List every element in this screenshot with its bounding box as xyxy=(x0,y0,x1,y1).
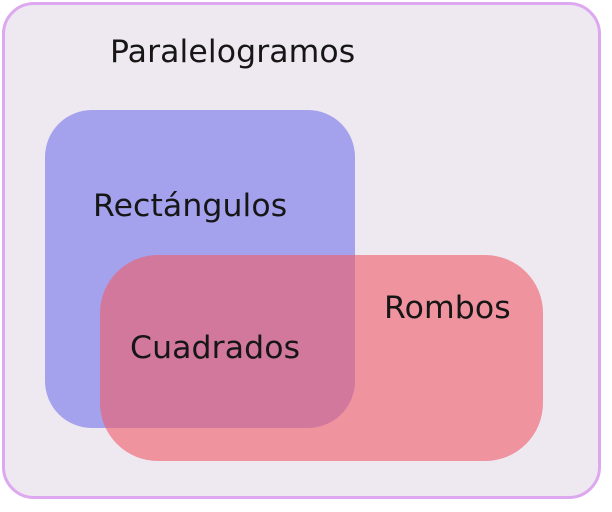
set-label-rombos: Rombos xyxy=(384,290,511,327)
set-label-cuadrados: Cuadrados xyxy=(130,330,300,367)
set-label-paralelogramos: Paralelogramos xyxy=(110,34,355,71)
euler-diagram: Paralelogramos Rectángulos Rombos Cuadra… xyxy=(0,0,612,512)
set-label-rectangulos: Rectángulos xyxy=(93,188,287,225)
